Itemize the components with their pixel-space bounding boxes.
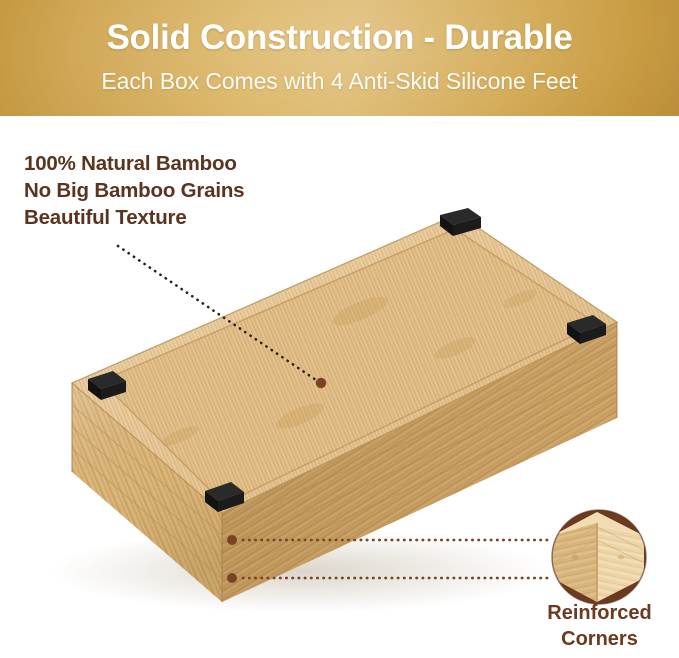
- header-banner: Solid Construction - Durable Each Box Co…: [0, 0, 679, 116]
- corner-leader-endpoint-upper: [227, 535, 237, 545]
- corner-leader-endpoint-lower: [227, 573, 237, 583]
- product-photo-stage: .leader-diag { stroke:#2a2118; stroke-wi…: [0, 116, 679, 658]
- feature-leader-endpoint: [316, 378, 326, 388]
- bamboo-box-illustration: .leader-diag { stroke:#2a2118; stroke-wi…: [0, 116, 679, 658]
- reinforced-corner-inset: [552, 510, 646, 604]
- page-title: Solid Construction - Durable: [0, 17, 679, 59]
- page-subtitle: Each Box Comes with 4 Anti-Skid Silicone…: [0, 66, 679, 96]
- product-marketing-image: Solid Construction - Durable Each Box Co…: [0, 0, 679, 658]
